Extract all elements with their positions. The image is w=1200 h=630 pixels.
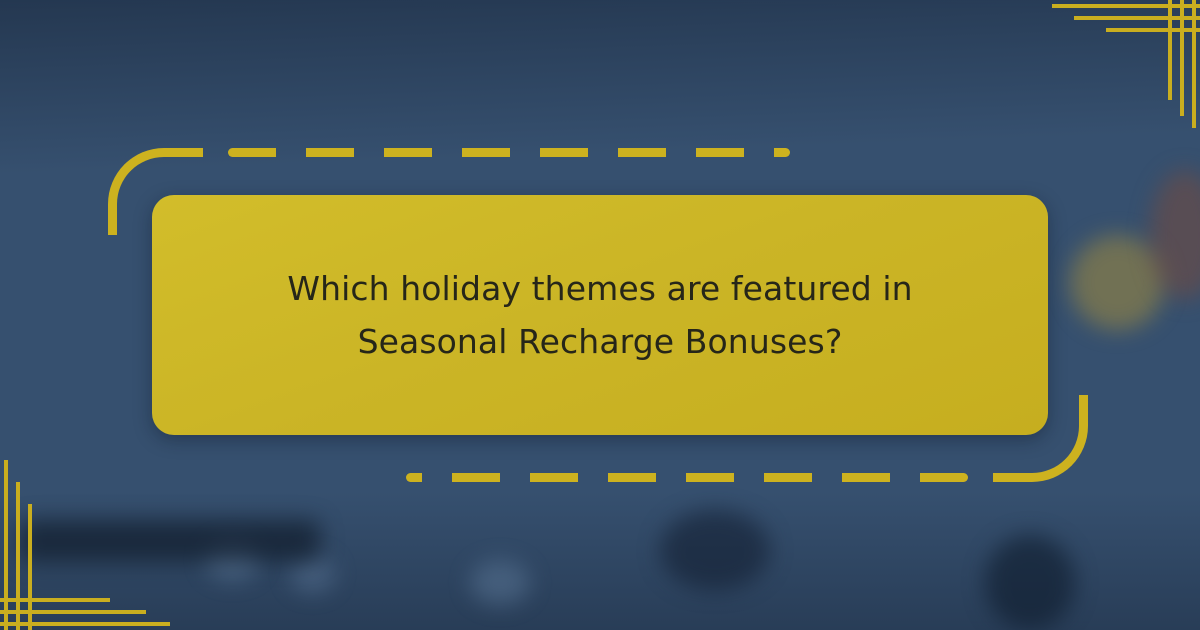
question-text: Which holiday themes are featured in Sea… [220, 262, 980, 369]
background-dark-bar [20, 520, 320, 562]
background-dark-blob [985, 535, 1075, 630]
background-dark-blob [660, 510, 770, 590]
question-line-2: Seasonal Recharge Bonuses? [220, 315, 980, 368]
promo-card-screenshot: Which holiday themes are featured in Sea… [0, 0, 1200, 630]
question-line-1: Which holiday themes are featured in [220, 262, 980, 315]
background-highlight-spot [470, 560, 530, 605]
question-card: Which holiday themes are featured in Sea… [152, 195, 1048, 435]
